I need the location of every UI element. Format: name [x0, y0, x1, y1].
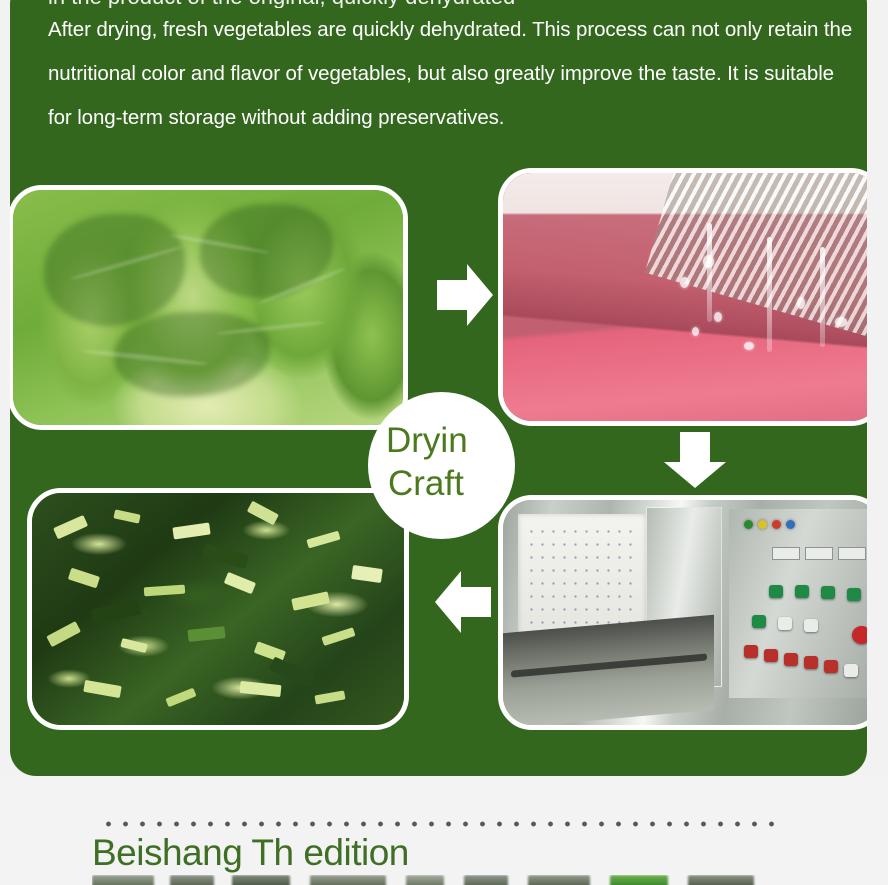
- arrow-left-icon: [431, 565, 495, 639]
- drying-craft-badge: Dryin Craft: [368, 392, 515, 539]
- product-detail-page: in the product of the original, quickly …: [0, 0, 888, 885]
- drying-machine-image: [503, 500, 867, 725]
- photo-washing-basin: [498, 168, 867, 426]
- thumbnail-item: [610, 875, 668, 885]
- thumbnail-strip: [92, 875, 862, 885]
- thumbnail-item: [406, 875, 444, 885]
- thumbnail-item: [310, 875, 386, 885]
- brand-title: Beishang Th edition: [92, 832, 409, 874]
- badge-line-1: Dryin: [386, 422, 576, 460]
- green-content-panel: in the product of the original, quickly …: [10, 0, 867, 776]
- dotted-divider: [100, 821, 780, 827]
- thumbnail-item: [528, 875, 590, 885]
- arrow-right-icon: [433, 258, 497, 332]
- thumbnail-item: [170, 875, 214, 885]
- thumbnail-item: [688, 875, 754, 885]
- clipped-top-text: in the product of the original, quickly …: [48, 0, 838, 8]
- washing-basin-image: [503, 173, 867, 421]
- photo-fresh-vegetables: [10, 185, 408, 430]
- bottom-section: Beishang Th edition: [0, 776, 888, 885]
- intro-paragraph: After drying, fresh vegetables are quick…: [48, 8, 856, 140]
- thumbnail-item: [232, 875, 290, 885]
- fresh-vegetables-image: [13, 190, 403, 425]
- photo-drying-machine: [498, 495, 867, 730]
- badge-line-2: Craft: [388, 465, 578, 503]
- photo-dried-vegetables: [27, 488, 409, 730]
- arrow-down-icon: [658, 428, 732, 492]
- water-grate: [645, 168, 867, 345]
- thumbnail-item: [464, 875, 508, 885]
- thumbnail-item: [92, 875, 154, 885]
- dried-vegetables-image: [32, 493, 404, 725]
